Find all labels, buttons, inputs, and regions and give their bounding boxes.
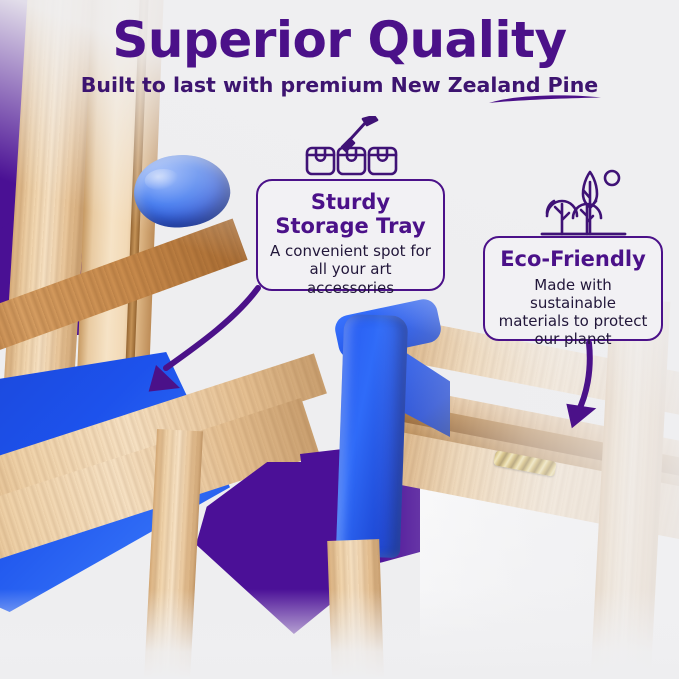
- bracket-vertical-face: [336, 314, 408, 558]
- header: Superior Quality Built to last with prem…: [0, 14, 679, 97]
- callout-card-eco-friendly: Eco-Friendly Made with sustainable mater…: [483, 236, 663, 341]
- callout-title-eco-friendly: Eco-Friendly: [495, 248, 651, 272]
- sun-icon: [605, 171, 619, 185]
- callout-body-storage-tray: A convenient spot for all your art acces…: [268, 242, 433, 297]
- paint-pots-tray-icon: [304, 116, 400, 178]
- callout-card-storage-tray: Sturdy Storage Tray A convenient spot fo…: [256, 179, 445, 291]
- callout-body-eco-friendly: Made with sustainable materials to prote…: [495, 276, 651, 349]
- easel-right-leg: [327, 539, 385, 679]
- three-trees-icon: [539, 168, 627, 240]
- blue-corner-bracket: [330, 305, 438, 557]
- page-title: Superior Quality: [0, 14, 679, 67]
- swoosh-underline-icon: [487, 93, 603, 106]
- callout-title-storage-tray: Sturdy Storage Tray: [268, 191, 433, 238]
- infographic-canvas: Superior Quality Built to last with prem…: [0, 0, 679, 679]
